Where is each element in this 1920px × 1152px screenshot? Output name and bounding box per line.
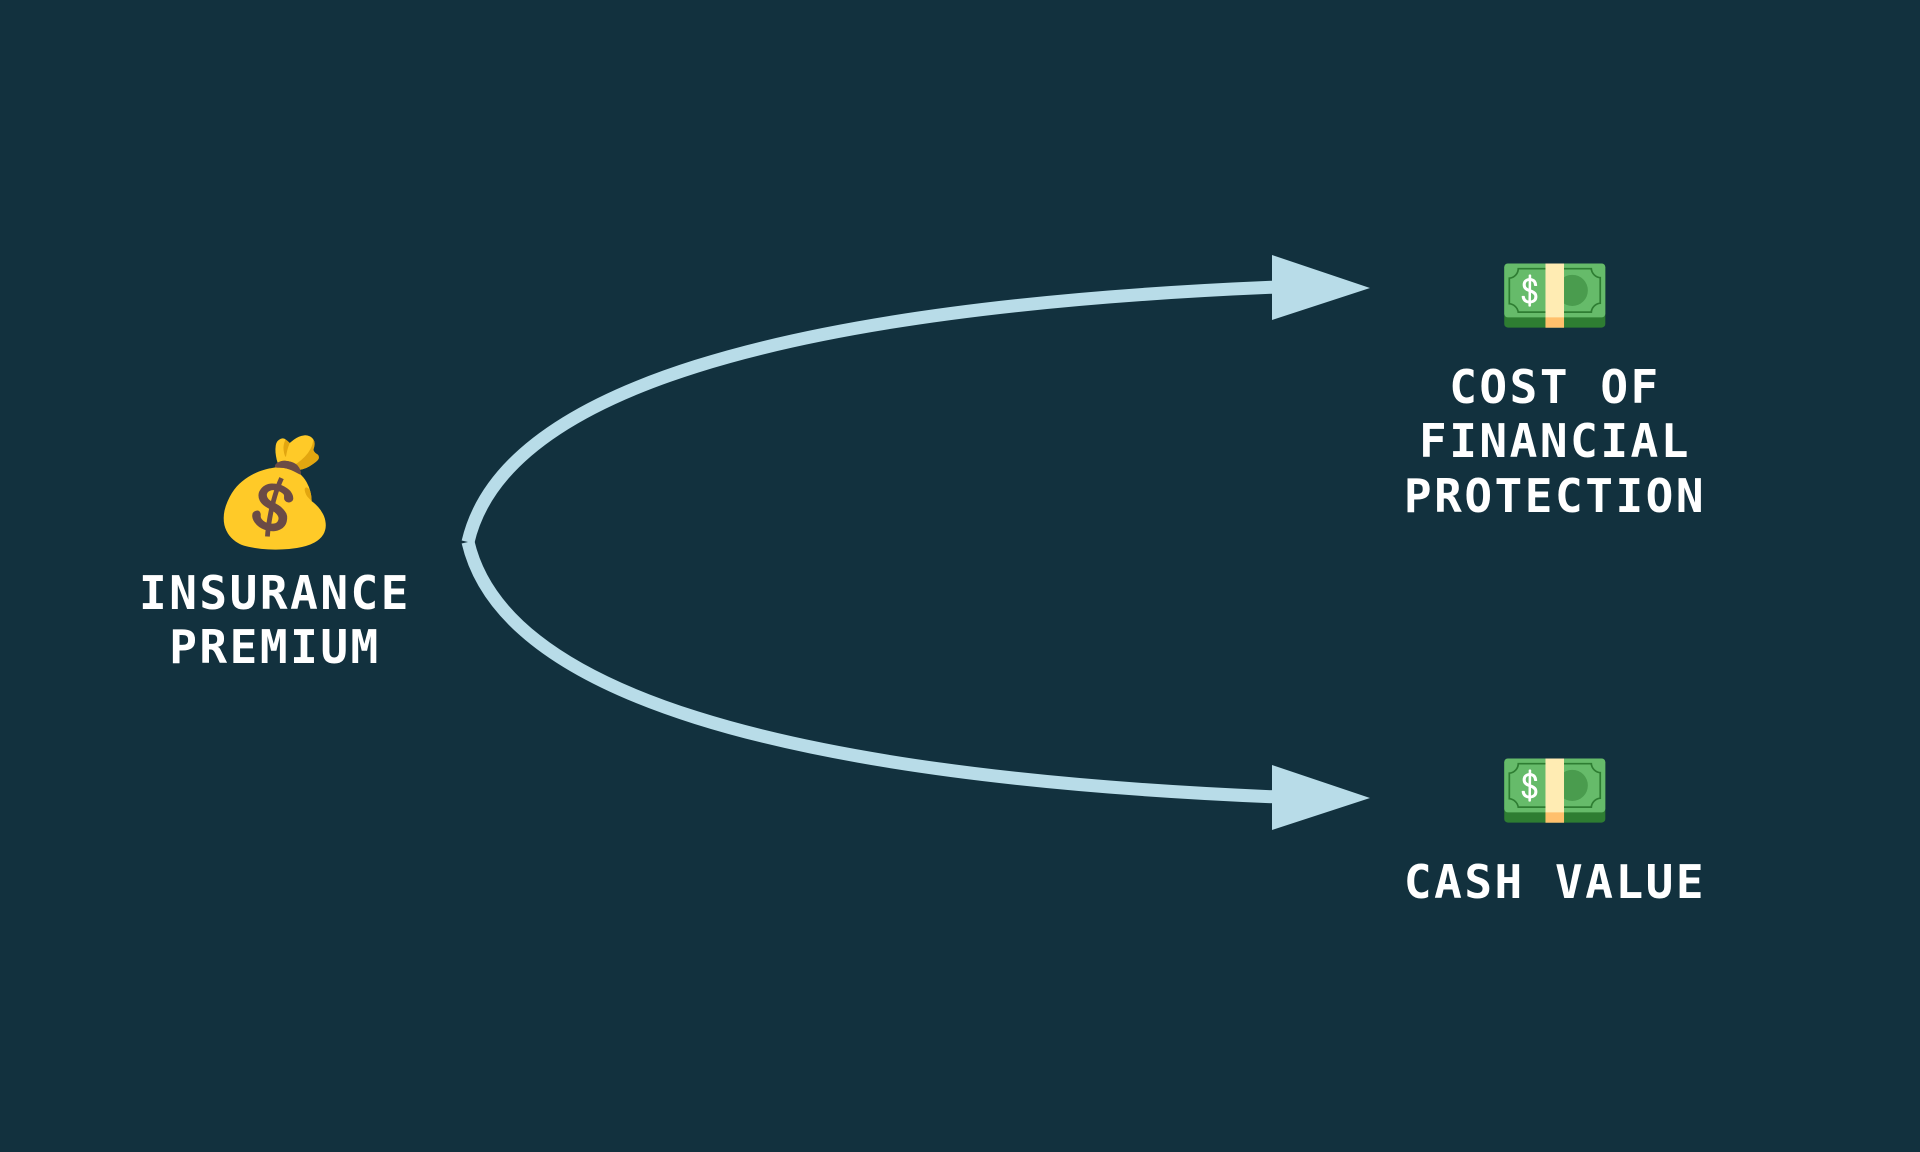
arrow-to-cost-of-financial-protection-line bbox=[468, 287, 1278, 542]
diagram-canvas: 💰 INSURANCE PREMIUM 💵 COST OF FINANCIAL … bbox=[0, 0, 1920, 1152]
banknotes-icon: 💵 bbox=[1498, 745, 1613, 837]
node-insurance-premium: 💰 INSURANCE PREMIUM bbox=[70, 440, 480, 675]
banknotes-icon: 💵 bbox=[1498, 250, 1613, 342]
node-cost-of-financial-protection: 💵 COST OF FINANCIAL PROTECTION bbox=[1330, 250, 1780, 523]
node-cash-value-label: CASH VALUE bbox=[1404, 855, 1706, 909]
node-cost-of-financial-protection-label: COST OF FINANCIAL PROTECTION bbox=[1404, 360, 1706, 523]
node-cash-value: 💵 CASH VALUE bbox=[1330, 745, 1780, 909]
arrow-to-cash-value-line bbox=[468, 542, 1278, 797]
money-bag-icon: 💰 bbox=[210, 440, 340, 544]
node-insurance-premium-label: INSURANCE PREMIUM bbox=[139, 566, 411, 675]
